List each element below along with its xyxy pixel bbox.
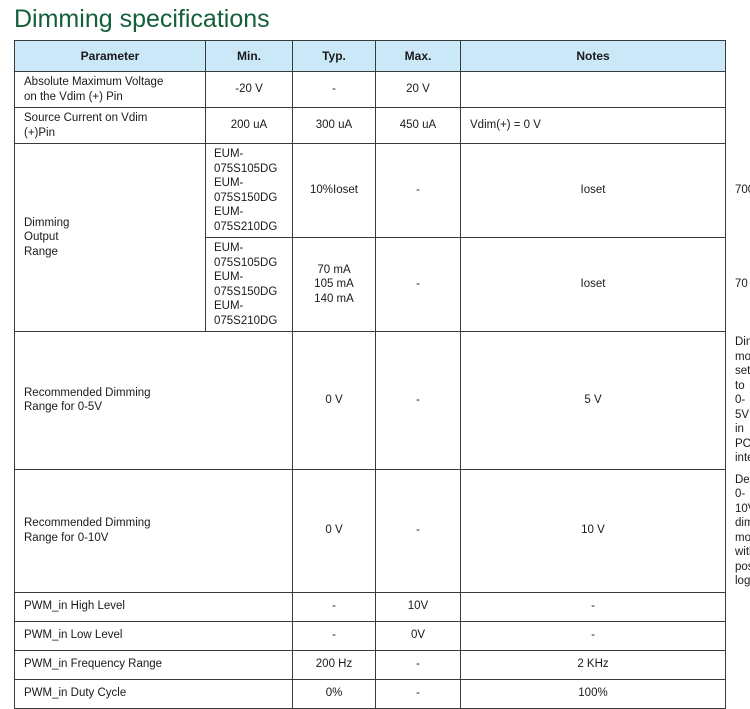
cell-models: EUM-075S105DG EUM-075S150DG EUM-075S210D… (206, 238, 293, 332)
column-header-typ: Typ. (293, 41, 376, 72)
cell-max: - (461, 621, 726, 650)
cell-min: 0 V (293, 469, 376, 592)
cell-parameter: Source Current on Vdim (+)Pin (15, 108, 206, 144)
cell-parameter: PWM_in High Level (15, 592, 293, 621)
cell-min: 10%Ioset (293, 144, 376, 238)
column-header-notes: Notes (461, 41, 726, 72)
cell-parameter: Recommended Dimming Range for 0-10V (15, 469, 293, 592)
table-row: Source Current on Vdim (+)Pin 200 uA 300… (15, 108, 726, 144)
cell-max: 450 uA (376, 108, 461, 144)
cell-min: 0 V (293, 332, 376, 470)
cell-typ: 0V (376, 621, 461, 650)
cell-notes (461, 72, 726, 108)
cell-max: 5 V (461, 332, 726, 470)
table-row: PWM_in Frequency Range 200 Hz - 2 KHz (15, 650, 726, 679)
table-header-row: Parameter Min. Typ. Max. Notes (15, 41, 726, 72)
cell-typ: - (376, 679, 461, 708)
table-row: Recommended Dimming Range for 0-5V 0 V -… (15, 332, 726, 470)
cell-typ: - (376, 650, 461, 679)
cell-typ: - (376, 144, 461, 238)
cell-models: EUM-075S105DG EUM-075S150DG EUM-075S210D… (206, 144, 293, 238)
cell-max: - (461, 592, 726, 621)
page-title: Dimming specifications (14, 2, 270, 36)
cell-parameter: Absolute Maximum Voltage on the Vdim (+)… (15, 72, 206, 108)
cell-typ: - (376, 238, 461, 332)
column-header-parameter: Parameter (15, 41, 206, 72)
cell-max: 20 V (376, 72, 461, 108)
cell-max: Ioset (461, 238, 726, 332)
table-row: Dimming Output Range EUM-075S105DG EUM-0… (15, 144, 726, 238)
table-body: Absolute Maximum Voltage on the Vdim (+)… (15, 72, 726, 709)
cell-min: -20 V (206, 72, 293, 108)
column-header-max: Max. (376, 41, 461, 72)
cell-max: 100% (461, 679, 726, 708)
cell-typ: - (376, 332, 461, 470)
column-header-min: Min. (206, 41, 293, 72)
cell-typ: 10V (376, 592, 461, 621)
cell-typ: - (293, 72, 376, 108)
cell-max: 10 V (461, 469, 726, 592)
cell-notes: Vdim(+) = 0 V (461, 108, 726, 144)
cell-parameter: PWM_in Frequency Range (15, 650, 293, 679)
cell-typ: 300 uA (293, 108, 376, 144)
cell-parameter: Recommended Dimming Range for 0-5V (15, 332, 293, 470)
cell-max: 2 KHz (461, 650, 726, 679)
table-row: PWM_in Duty Cycle 0% - 100% (15, 679, 726, 708)
cell-parameter: PWM_in Duty Cycle (15, 679, 293, 708)
cell-min: 70 mA 105 mA 140 mA (293, 238, 376, 332)
cell-parameter: PWM_in Low Level (15, 621, 293, 650)
cell-min: - (293, 621, 376, 650)
cell-min: 0% (293, 679, 376, 708)
cell-max: Ioset (461, 144, 726, 238)
table-row: Recommended Dimming Range for 0-10V 0 V … (15, 469, 726, 592)
cell-min: - (293, 592, 376, 621)
page-root: Dimming specifications Parameter Min. Ty… (0, 0, 750, 439)
table-row: PWM_in High Level - 10V - (15, 592, 726, 621)
cell-min: 200 uA (206, 108, 293, 144)
table-header: Parameter Min. Typ. Max. Notes (15, 41, 726, 72)
cell-min: 200 Hz (293, 650, 376, 679)
dimming-specifications-table: Parameter Min. Typ. Max. Notes Absolute … (14, 40, 726, 709)
table-row: Absolute Maximum Voltage on the Vdim (+)… (15, 72, 726, 108)
table-row: PWM_in Low Level - 0V - (15, 621, 726, 650)
cell-typ: - (376, 469, 461, 592)
cell-group-label-dimming-output-range: Dimming Output Range (15, 144, 206, 332)
